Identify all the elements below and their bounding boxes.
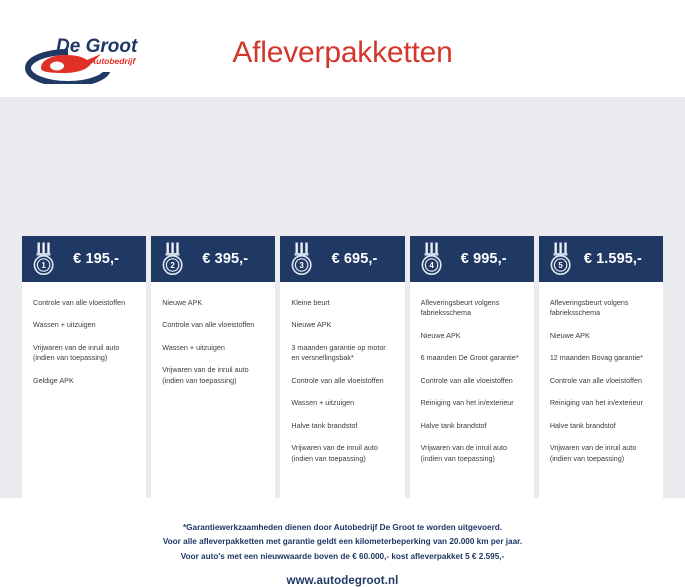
package-feature: Nieuwe APK: [550, 331, 652, 341]
package-feature-line: fabrieksschema: [421, 308, 523, 318]
package-feature: Nieuwe APK: [162, 298, 264, 308]
package-feature: 3 maanden garantie op motoren versnellin…: [291, 343, 393, 364]
package-feature-line: Vrijwaren van de inruil auto: [33, 343, 135, 353]
package-feature: Nieuwe APK: [421, 331, 523, 341]
package-feature: Afleveringsbeurt volgensfabrieksschema: [550, 298, 652, 319]
package-feature: Vrijwaren van de inruil auto(indien van …: [291, 443, 393, 464]
package-feature: Controle van alle vloeistoffen: [550, 376, 652, 386]
package-card[interactable]: 1€ 195,-Controle van alle vloeistoffenWa…: [22, 236, 146, 505]
footnotes: *Garantiewerkzaamheden dienen door Autob…: [0, 521, 685, 564]
package-feature: Afleveringsbeurt volgensfabrieksschema: [421, 298, 523, 319]
package-feature-line: Vrijwaren van de inruil auto: [291, 443, 393, 453]
package-feature-line: Afleveringsbeurt volgens: [550, 298, 652, 308]
package-feature: Controle van alle vloeistoffen: [421, 376, 523, 386]
package-feature-line: Vrijwaren van de inruil auto: [162, 365, 264, 375]
package-price: € 195,-: [57, 251, 137, 267]
package-feature: Halve tank brandstof: [291, 421, 393, 431]
package-card[interactable]: 4€ 995,-Afleveringsbeurt volgensfabrieks…: [410, 236, 534, 505]
package-feature: Halve tank brandstof: [421, 421, 523, 431]
svg-text:5: 5: [558, 261, 563, 270]
package-feature-line: Vrijwaren van de inruil auto: [550, 443, 652, 453]
package-feature: Vrijwaren van de inruil auto(indien van …: [421, 443, 523, 464]
package-feature: Reiniging van het in/exterieur: [550, 398, 652, 408]
package-price: € 395,-: [186, 251, 266, 267]
package-feature: Reiniging van het in/exterieur: [421, 398, 523, 408]
package-feature: Controle van alle vloeistoffen: [291, 376, 393, 386]
package-card[interactable]: 2€ 395,-Nieuwe APKControle van alle vloe…: [151, 236, 275, 505]
footnote-line: *Garantiewerkzaamheden dienen door Autob…: [0, 521, 685, 535]
package-card-header: 4€ 995,-: [410, 236, 534, 282]
package-feature: Controle van alle vloeistoffen: [162, 320, 264, 330]
package-feature: Wassen + uitzuigen: [162, 343, 264, 353]
page-title: Afleverpakketten: [0, 36, 685, 70]
footer-strip: [0, 498, 685, 514]
package-feature: 12 maanden Bovag garantie*: [550, 353, 652, 363]
package-price: € 695,-: [315, 251, 395, 267]
medal-icon: 3: [289, 242, 315, 276]
package-feature: Nieuwe APK: [291, 320, 393, 330]
package-feature: Vrijwaren van de inruil auto(indien van …: [550, 443, 652, 464]
package-feature-line: Vrijwaren van de inruil auto: [421, 443, 523, 453]
package-feature-list: Controle van alle vloeistoffenWassen + u…: [22, 282, 146, 505]
svg-text:4: 4: [429, 261, 434, 270]
package-card-header: 5€ 1.595,-: [539, 236, 663, 282]
package-feature: Controle van alle vloeistoffen: [33, 298, 135, 308]
package-card-grid: 1€ 195,-Controle van alle vloeistoffenWa…: [22, 236, 663, 505]
package-feature-line: en versnellingsbak*: [291, 353, 393, 363]
packages-panel: 1€ 195,-Controle van alle vloeistoffenWa…: [0, 97, 685, 498]
package-feature-line: (indien van toepassing): [421, 454, 523, 464]
svg-text:1: 1: [41, 261, 46, 270]
package-card[interactable]: 5€ 1.595,-Afleveringsbeurt volgensfabrie…: [539, 236, 663, 505]
package-feature-line: 3 maanden garantie op motor: [291, 343, 393, 353]
website-url[interactable]: www.autodegroot.nl: [0, 575, 685, 587]
package-card[interactable]: 3€ 695,-Kleine beurtNieuwe APK3 maanden …: [280, 236, 404, 505]
package-feature: Halve tank brandstof: [550, 421, 652, 431]
medal-icon: 1: [31, 242, 57, 276]
package-feature: Kleine beurt: [291, 298, 393, 308]
medal-icon: 4: [419, 242, 445, 276]
package-feature-list: Afleveringsbeurt volgensfabrieksschemaNi…: [410, 282, 534, 505]
package-feature-line: (indien van toepassing): [162, 376, 264, 386]
package-feature-line: (indien van toepassing): [291, 454, 393, 464]
package-card-header: 1€ 195,-: [22, 236, 146, 282]
package-feature: Vrijwaren van de inruil auto(indien van …: [162, 365, 264, 386]
medal-icon: 2: [160, 242, 186, 276]
package-feature: Wassen + uitzuigen: [33, 320, 135, 330]
package-card-header: 2€ 395,-: [151, 236, 275, 282]
package-card-header: 3€ 695,-: [280, 236, 404, 282]
package-feature-line: (indien van toepassing): [33, 353, 135, 363]
package-feature-line: Afleveringsbeurt volgens: [421, 298, 523, 308]
footnote-line: Voor alle afleverpakketten met garantie …: [0, 535, 685, 549]
package-feature-list: Afleveringsbeurt volgensfabrieksschemaNi…: [539, 282, 663, 505]
svg-text:3: 3: [300, 261, 305, 270]
package-feature: 6 maanden De Groot garantie*: [421, 353, 523, 363]
medal-icon: 5: [548, 242, 574, 276]
package-feature-line: (indien van toepassing): [550, 454, 652, 464]
package-feature-list: Kleine beurtNieuwe APK3 maanden garantie…: [280, 282, 404, 505]
package-feature: Wassen + uitzuigen: [291, 398, 393, 408]
package-feature: Geldige APK: [33, 376, 135, 386]
package-feature: Vrijwaren van de inruil auto(indien van …: [33, 343, 135, 364]
page-header: De Groot Autobedrijf Afleverpakketten: [0, 0, 685, 97]
package-feature-line: fabrieksschema: [550, 308, 652, 318]
package-price: € 1.595,-: [574, 251, 654, 267]
package-price: € 995,-: [445, 251, 525, 267]
package-feature-list: Nieuwe APKControle van alle vloeistoffen…: [151, 282, 275, 505]
footnote-line: Voor auto's met een nieuwwaarde boven de…: [0, 550, 685, 564]
svg-text:2: 2: [171, 261, 176, 270]
